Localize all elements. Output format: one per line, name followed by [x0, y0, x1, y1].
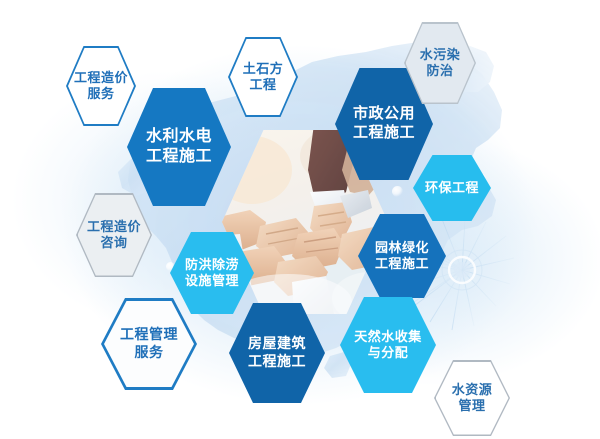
hex-label-line2: 工程施工 — [248, 353, 306, 371]
hex-engineering-cost-consulting[interactable]: 工程造价 咨询 — [76, 193, 152, 277]
hex-label-line1: 环保工程 — [425, 180, 479, 196]
hex-water-resource-management[interactable]: 水资源 管理 — [434, 360, 510, 436]
hex-label-line2: 设施管理 — [185, 273, 239, 289]
hex-label-line1: 工程管理 — [120, 326, 178, 344]
hex-earthwork-engineering[interactable]: 土石方 工程 — [228, 37, 298, 117]
hex-label-line2: 工程施工 — [353, 124, 415, 143]
infographic-canvas: 工程造价 服务 土石方 工程 水利水电 工程施工 市政公用 工程施工 水污染 防… — [0, 0, 600, 439]
hex-label-line1: 土石方 — [243, 61, 284, 77]
hex-label-line1: 工程造价 — [87, 219, 141, 235]
hex-label-line2: 防治 — [426, 63, 453, 79]
hex-label-line1: 水资源 — [452, 382, 493, 398]
hex-label-line2: 工程施工 — [375, 256, 429, 272]
hex-water-pollution-control[interactable]: 水污染 防治 — [404, 22, 476, 104]
hex-label-line2: 工程 — [249, 77, 276, 93]
hex-label-line1: 水污染 — [420, 47, 461, 63]
hex-label-line1: 工程造价 — [74, 70, 128, 86]
hex-label-line1: 市政公用 — [353, 105, 415, 124]
hex-label-line1: 天然水收集 — [354, 329, 422, 345]
hex-label-line2: 工程施工 — [146, 147, 212, 167]
hex-label-line2: 管理 — [458, 398, 485, 414]
hex-engineering-management-service[interactable]: 工程管理 服务 — [101, 298, 197, 390]
hex-label-line1: 水利水电 — [146, 127, 212, 147]
hex-label-line2: 服务 — [87, 86, 114, 102]
hex-engineering-cost-service[interactable]: 工程造价 服务 — [66, 46, 136, 126]
hex-label-line2: 咨询 — [100, 235, 127, 251]
hex-label-line1: 园林绿化 — [375, 240, 429, 256]
hex-label-line2: 服务 — [135, 344, 164, 362]
hex-label-line1: 防洪除涝 — [185, 257, 239, 273]
hex-label-line1: 房屋建筑 — [248, 335, 306, 353]
hex-label-line2: 与分配 — [368, 345, 409, 361]
